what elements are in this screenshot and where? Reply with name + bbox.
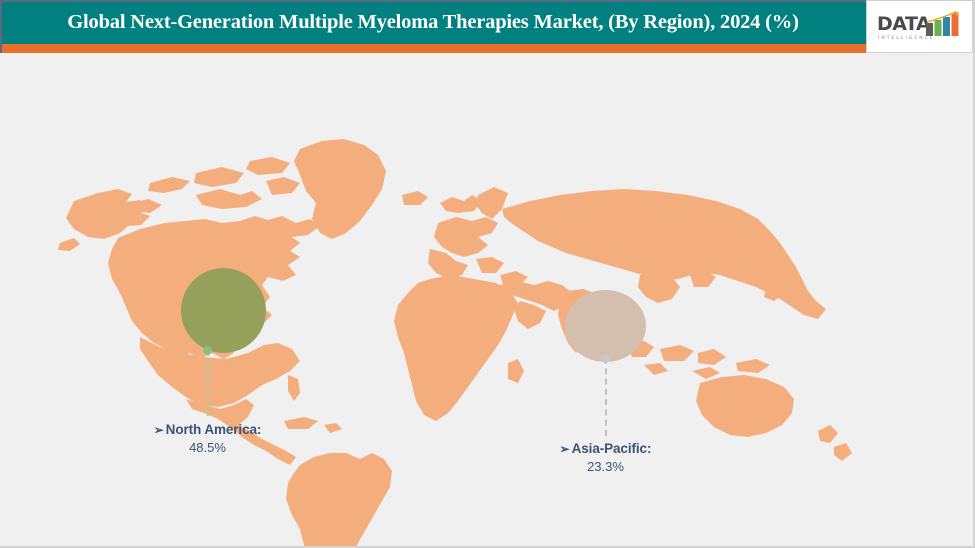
leader-line-north-america — [207, 350, 209, 416]
leader-line-asia-pacific — [605, 358, 607, 436]
bubble-north-america[interactable] — [181, 268, 266, 353]
callout-title-row: ➢Asia-Pacific: — [497, 440, 714, 458]
bar-chart-growth-icon — [926, 11, 965, 37]
region-value-asia-pacific: 23.3% — [497, 458, 714, 476]
callout-asia-pacific: ➢Asia-Pacific: 23.3% — [497, 440, 714, 476]
callout-title-row: ➢North America: — [90, 421, 325, 439]
leader-dot-asia-pacific — [601, 354, 610, 363]
page-title: Global Next-Generation Multiple Myeloma … — [2, 0, 864, 44]
header-accent-stripe — [0, 44, 866, 53]
arrowhead-bullet-icon: ➢ — [560, 442, 570, 456]
world-map-svg — [0, 53, 975, 546]
logo-inner: DATA INTELLIGENCE — [877, 9, 965, 47]
bubble-asia-pacific[interactable] — [565, 290, 646, 362]
logo-wordmark: DATA — [877, 15, 930, 34]
region-value-north-america: 48.5% — [90, 439, 325, 457]
arrowhead-bullet-icon: ➢ — [154, 423, 164, 437]
region-label-asia-pacific: Asia-Pacific: — [572, 441, 652, 456]
callout-north-america: ➢North America: 48.5% — [90, 421, 325, 457]
leader-dot-north-america — [203, 346, 212, 355]
world-map: ➢North America: 48.5% ➢Asia-Pacific: 23.… — [0, 53, 975, 546]
infographic-page: Global Next-Generation Multiple Myeloma … — [0, 0, 975, 548]
region-label-north-america: North America: — [166, 422, 262, 437]
brand-logo[interactable]: DATA INTELLIGENCE — [866, 0, 973, 53]
header: Global Next-Generation Multiple Myeloma … — [0, 0, 975, 52]
